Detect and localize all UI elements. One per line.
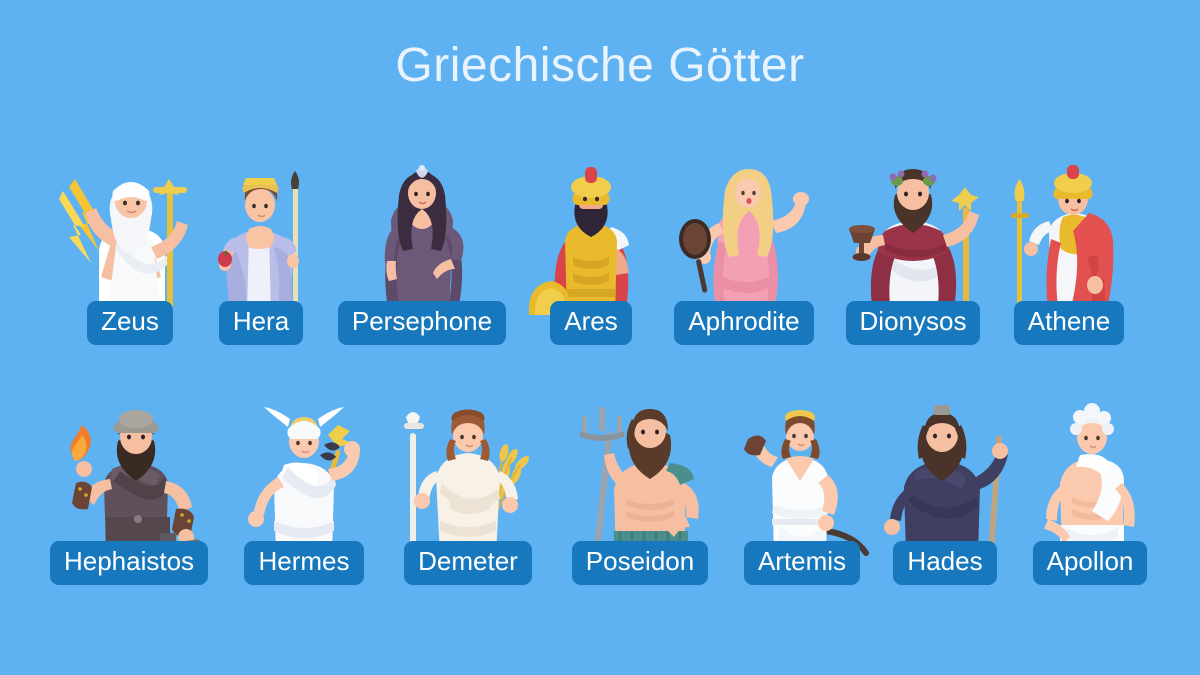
poseidon-figure-icon bbox=[552, 405, 728, 555]
persephone-figure bbox=[317, 165, 527, 315]
hera-figure-icon bbox=[205, 165, 317, 315]
god-label-demeter[interactable]: Demeter bbox=[404, 541, 532, 585]
artemis-figure bbox=[728, 405, 876, 555]
god-label-zeus[interactable]: Zeus bbox=[87, 301, 173, 345]
god-card-zeus[interactable]: Zeus bbox=[55, 165, 205, 345]
apollon-figure-icon bbox=[1014, 405, 1166, 555]
persephone-figure-icon bbox=[317, 165, 527, 315]
athene-figure bbox=[993, 165, 1145, 315]
hephaistos-figure-icon bbox=[34, 405, 224, 555]
god-card-poseidon[interactable]: Poseidon bbox=[552, 405, 728, 585]
hera-figure bbox=[205, 165, 317, 315]
aphrodite-figure bbox=[655, 165, 833, 315]
god-card-persephone[interactable]: Persephone bbox=[317, 165, 527, 345]
god-label-athene[interactable]: Athene bbox=[1014, 301, 1124, 345]
god-label-aphrodite[interactable]: Aphrodite bbox=[674, 301, 813, 345]
hermes-figure-icon bbox=[224, 405, 384, 555]
demeter-figure bbox=[384, 405, 552, 555]
god-label-apollon[interactable]: Apollon bbox=[1033, 541, 1148, 585]
god-label-ares[interactable]: Ares bbox=[550, 301, 631, 345]
aphrodite-figure-icon bbox=[655, 165, 833, 315]
god-label-poseidon[interactable]: Poseidon bbox=[572, 541, 708, 585]
god-card-artemis[interactable]: Artemis bbox=[728, 405, 876, 585]
apollon-figure bbox=[1014, 405, 1166, 555]
poseidon-figure bbox=[552, 405, 728, 555]
zeus-figure bbox=[55, 165, 205, 315]
god-card-hades[interactable]: Hades bbox=[876, 405, 1014, 585]
god-card-hephaistos[interactable]: Hephaistos bbox=[34, 405, 224, 585]
hermes-figure bbox=[224, 405, 384, 555]
hades-figure-icon bbox=[876, 405, 1014, 555]
gods-row-1: Zeus bbox=[0, 130, 1200, 345]
demeter-figure-icon bbox=[384, 405, 552, 555]
illustration-canvas: Griechische Götter bbox=[0, 0, 1200, 675]
athene-figure-icon bbox=[993, 165, 1145, 315]
dionysos-figure-icon bbox=[833, 165, 993, 315]
god-card-hermes[interactable]: Hermes bbox=[224, 405, 384, 585]
god-label-hermes[interactable]: Hermes bbox=[244, 541, 363, 585]
gods-row-2: Hephaistos bbox=[0, 365, 1200, 585]
god-card-aphrodite[interactable]: Aphrodite bbox=[655, 165, 833, 345]
god-card-hera[interactable]: Hera bbox=[205, 165, 317, 345]
page-title: Griechische Götter bbox=[0, 38, 1200, 93]
god-label-hades[interactable]: Hades bbox=[893, 541, 996, 585]
god-label-persephone[interactable]: Persephone bbox=[338, 301, 506, 345]
dionysos-figure bbox=[833, 165, 993, 315]
hades-figure bbox=[876, 405, 1014, 555]
zeus-figure-icon bbox=[55, 165, 205, 315]
ares-figure-icon bbox=[527, 165, 655, 315]
god-card-dionysos[interactable]: Dionysos bbox=[833, 165, 993, 345]
god-card-apollon[interactable]: Apollon bbox=[1014, 405, 1166, 585]
god-card-athene[interactable]: Athene bbox=[993, 165, 1145, 345]
artemis-figure-icon bbox=[728, 405, 876, 555]
god-label-dionysos[interactable]: Dionysos bbox=[846, 301, 981, 345]
god-label-artemis[interactable]: Artemis bbox=[744, 541, 860, 585]
hephaistos-figure bbox=[34, 405, 224, 555]
god-label-hephaistos[interactable]: Hephaistos bbox=[50, 541, 208, 585]
god-card-ares[interactable]: Ares bbox=[527, 165, 655, 345]
ares-figure bbox=[527, 165, 655, 315]
god-label-hera[interactable]: Hera bbox=[219, 301, 303, 345]
god-card-demeter[interactable]: Demeter bbox=[384, 405, 552, 585]
